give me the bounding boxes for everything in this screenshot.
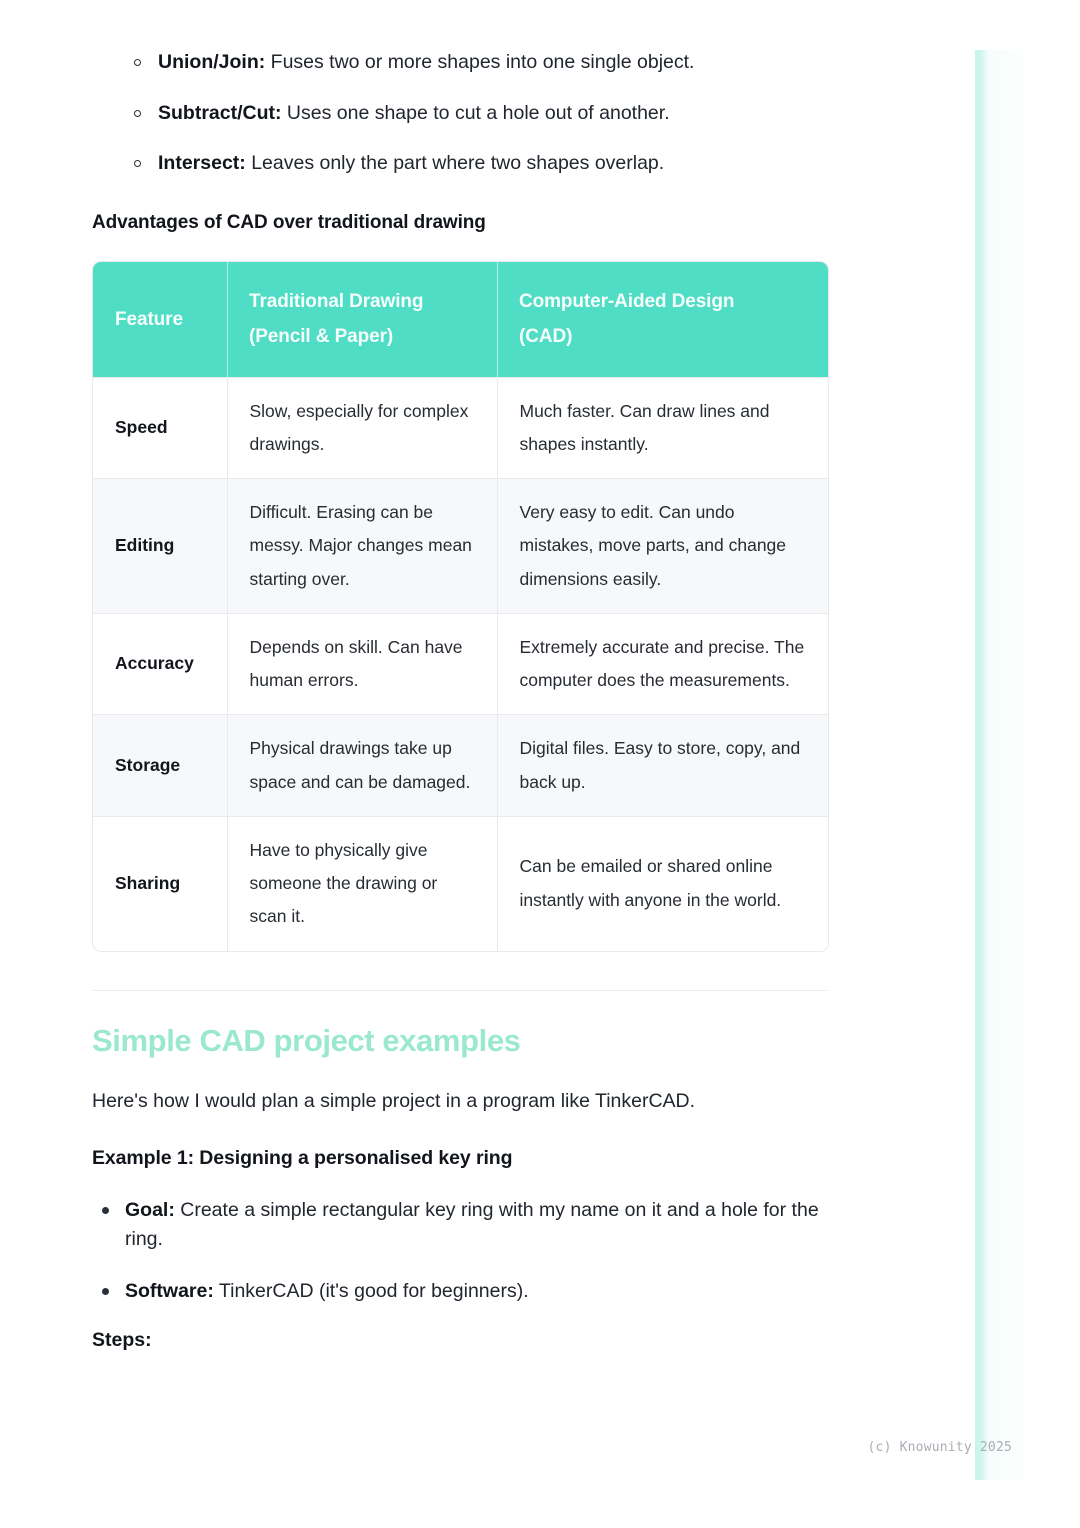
example-heading: Example 1: Designing a personalised key … xyxy=(92,1147,827,1170)
list-item-term: Union/Join: xyxy=(158,51,265,73)
table-row: Editing Difficult. Erasing can be messy.… xyxy=(93,479,828,614)
cell-feature: Sharing xyxy=(93,816,227,950)
table-body: Speed Slow, especially for complex drawi… xyxy=(93,377,828,951)
document-content: Union/Join: Fuses two or more shapes int… xyxy=(92,0,827,1352)
column-header-traditional-drawing: Traditional Drawing (Pencil & Paper) xyxy=(227,262,497,377)
table-row: Speed Slow, especially for complex drawi… xyxy=(93,377,828,479)
table-row: Sharing Have to physically give someone … xyxy=(93,816,828,950)
cell-cad: Can be emailed or shared online instantl… xyxy=(497,816,828,950)
boolean-operations-list: Union/Join: Fuses two or more shapes int… xyxy=(92,48,827,179)
cell-cad: Much faster. Can draw lines and shapes i… xyxy=(497,377,828,479)
cell-traditional: Physical drawings take up space and can … xyxy=(227,715,497,817)
list-item: Goal: Create a simple rectangular key ri… xyxy=(92,1196,827,1255)
list-item-term: Subtract/Cut: xyxy=(158,102,282,124)
table-row: Accuracy Depends on skill. Can have huma… xyxy=(93,613,828,715)
list-item-text: Uses one shape to cut a hole out of anot… xyxy=(282,102,670,124)
list-item-text: Leaves only the part where two shapes ov… xyxy=(246,152,664,174)
cell-cad: Extremely accurate and precise. The comp… xyxy=(497,613,828,715)
steps-label: Steps: xyxy=(92,1329,827,1352)
comparison-table: Feature Traditional Drawing (Pencil & Pa… xyxy=(93,262,828,951)
table-header: Feature Traditional Drawing (Pencil & Pa… xyxy=(93,262,828,377)
list-item-term: Intersect: xyxy=(158,152,246,174)
table-row: Storage Physical drawings take up space … xyxy=(93,715,828,817)
comparison-table-container: Feature Traditional Drawing (Pencil & Pa… xyxy=(92,261,829,952)
list-item-term: Software: xyxy=(125,1280,214,1302)
cell-cad: Digital files. Easy to store, copy, and … xyxy=(497,715,828,817)
advantages-heading: Advantages of CAD over traditional drawi… xyxy=(92,212,827,234)
cell-cad: Very easy to edit. Can undo mistakes, mo… xyxy=(497,479,828,614)
list-item-text: Fuses two or more shapes into one single… xyxy=(265,51,694,73)
cell-traditional: Slow, especially for complex drawings. xyxy=(227,377,497,479)
section-intro-text: Here's how I would plan a simple project… xyxy=(92,1087,827,1116)
list-item: Software: TinkerCAD (it's good for begin… xyxy=(92,1277,827,1307)
list-item-text: TinkerCAD (it's good for beginners). xyxy=(214,1280,529,1302)
document-page: Union/Join: Fuses two or more shapes int… xyxy=(0,0,1080,1352)
column-header-cad: Computer-Aided Design (CAD) xyxy=(497,262,828,377)
table-header-row: Feature Traditional Drawing (Pencil & Pa… xyxy=(93,262,828,377)
list-item: Intersect: Leaves only the part where tw… xyxy=(92,149,827,179)
cell-feature: Speed xyxy=(93,377,227,479)
cell-feature: Storage xyxy=(93,715,227,817)
column-header-feature: Feature xyxy=(93,262,227,377)
list-item: Subtract/Cut: Uses one shape to cut a ho… xyxy=(92,99,827,129)
list-item-term: Goal: xyxy=(125,1199,175,1221)
cell-feature: Editing xyxy=(93,479,227,614)
copyright-watermark: (c) Knowunity 2025 xyxy=(868,1440,1012,1455)
list-item-text: Create a simple rectangular key ring wit… xyxy=(125,1199,819,1251)
cell-traditional: Depends on skill. Can have human errors. xyxy=(227,613,497,715)
example-bullet-list: Goal: Create a simple rectangular key ri… xyxy=(92,1196,827,1307)
section-divider xyxy=(92,990,827,991)
section-title: Simple CAD project examples xyxy=(92,1023,827,1059)
cell-traditional: Have to physically give someone the draw… xyxy=(227,816,497,950)
cell-traditional: Difficult. Erasing can be messy. Major c… xyxy=(227,479,497,614)
example-details-block: Goal: Create a simple rectangular key ri… xyxy=(92,1196,827,1307)
cell-feature: Accuracy xyxy=(93,613,227,715)
list-item: Union/Join: Fuses two or more shapes int… xyxy=(92,48,827,78)
